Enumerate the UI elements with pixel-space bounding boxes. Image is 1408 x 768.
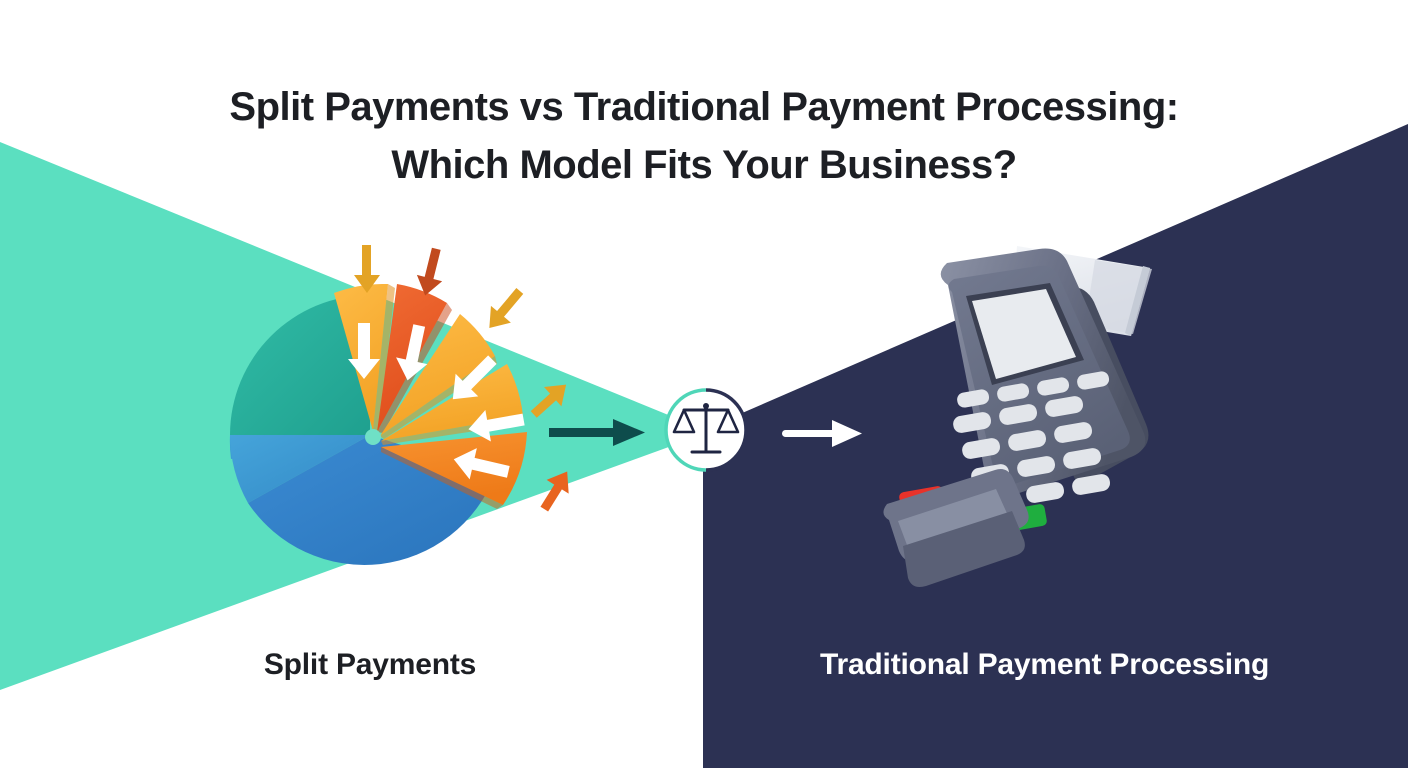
- label-traditional-payment-processing: Traditional Payment Processing: [820, 648, 1300, 682]
- page-title: Split Payments vs Traditional Payment Pr…: [0, 78, 1408, 194]
- label-split-payments: Split Payments: [180, 648, 560, 682]
- balance-scale-icon: [666, 390, 746, 470]
- arrow-amber-down-3: [479, 283, 530, 336]
- arrow-right-dark-teal-icon: [549, 419, 645, 446]
- arrow-orange-right-5: [533, 465, 578, 516]
- arrow-right-white-icon: [782, 420, 862, 447]
- arrow-amber-right-4: [525, 375, 575, 424]
- pos-terminal-icon: [883, 246, 1152, 587]
- pie-hub: [365, 429, 381, 445]
- title-line-1: Split Payments vs Traditional Payment Pr…: [0, 78, 1408, 136]
- title-line-2: Which Model Fits Your Business?: [0, 136, 1408, 194]
- exploded-pie-chart-icon: [230, 245, 578, 565]
- infographic-canvas: Split Payments vs Traditional Payment Pr…: [0, 0, 1408, 768]
